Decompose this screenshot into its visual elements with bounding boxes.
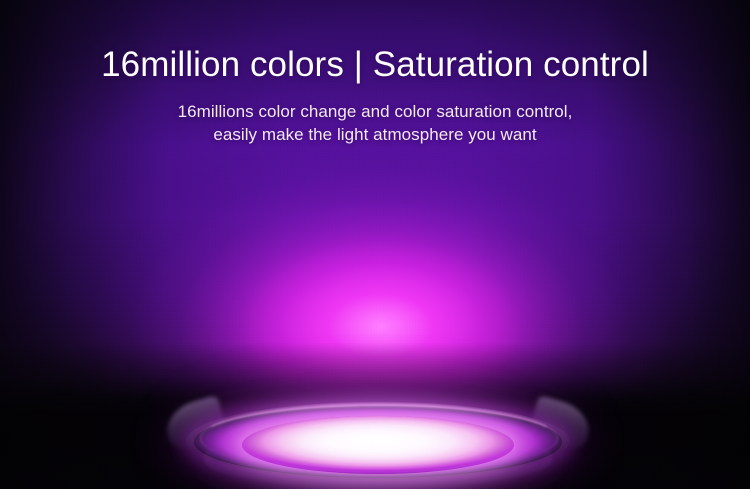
led-downlight-fixture	[182, 392, 574, 489]
product-banner: 16million colors | Saturation control 16…	[0, 0, 750, 489]
subtitle-line-2: easily make the light atmosphere you wan…	[0, 123, 750, 146]
page-title: 16million colors | Saturation control	[0, 44, 750, 86]
subtitle-line-1: 16millions color change and color satura…	[0, 100, 750, 123]
center-specular-highlight	[278, 424, 468, 460]
headline-block: 16million colors | Saturation control 16…	[0, 44, 750, 146]
subtitle: 16millions color change and color satura…	[0, 100, 750, 146]
